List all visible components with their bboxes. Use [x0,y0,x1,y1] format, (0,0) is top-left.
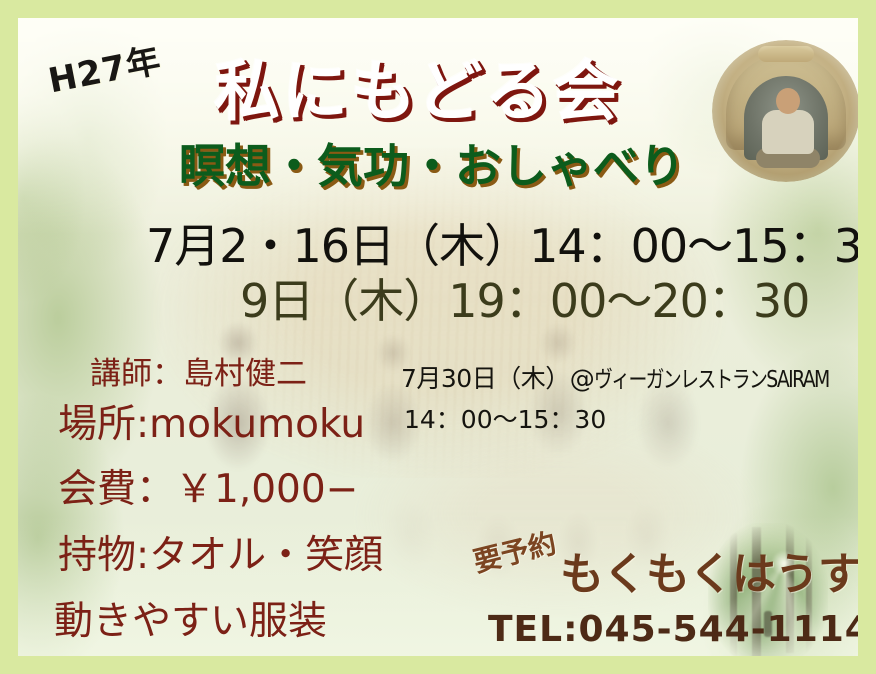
subtitle: 瞑想・気功・おしゃべり [179,143,685,189]
special-date-place: ヴィーガンレストランSAIRAM [594,369,829,392]
special-session-date: 7月30日（木）@ヴィーガンレストランSAIRAM（長谷） [401,366,858,392]
brand-name: もくもくはうす [560,553,858,597]
poster-frame: H27年 私にもどる会 瞑想・気功・おしゃべり 7月2・16日（木）14：00〜… [0,0,876,674]
phone-number: TEL:045-544-1114 [488,612,858,648]
poster-canvas: H27年 私にもどる会 瞑想・気功・おしゃべり 7月2・16日（木）14：00〜… [18,18,858,656]
detail-lecturer: 講師：島村健二 [90,359,307,390]
person-head [776,88,800,114]
special-session-time: 14：00〜15：30 [404,407,606,432]
person-body [762,110,814,154]
dome-cap [758,46,814,62]
special-date-prefix: 7月30日（木）@ [401,364,594,393]
detail-venue: 場所:mokumoku [58,405,365,444]
schedule-line-2: 9日（木）19：00〜20：30 [240,278,809,324]
detail-clothes: 動きやすい服装 [54,602,327,641]
dome-photo [712,40,858,182]
detail-bring: 持物:タオル・笑顔 [58,536,383,575]
schedule-line-1: 7月2・16日（木）14：00〜15：30 [146,223,858,269]
detail-fee: 会費：￥1,000− [58,470,358,509]
page-title: 私にもどる会 [214,59,621,125]
